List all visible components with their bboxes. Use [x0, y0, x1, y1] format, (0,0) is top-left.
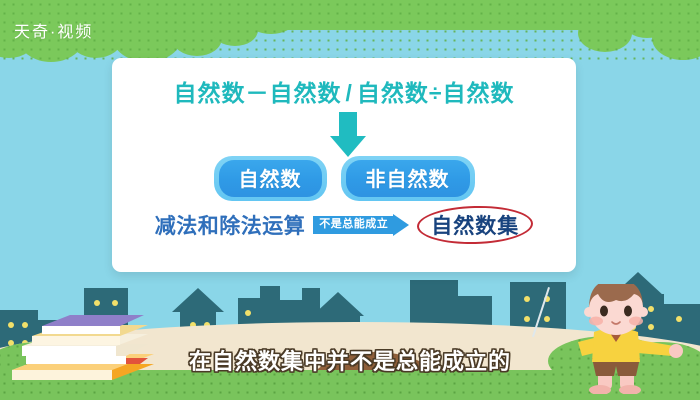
subtitle-caption: 在自然数集中并不是总能成立的 — [0, 344, 700, 376]
flow-arrow-tip — [393, 214, 409, 236]
down-arrow-icon — [330, 112, 366, 156]
card-headline: 自然数－自然数/自然数÷自然数 — [112, 74, 576, 108]
cartoon-boy-icon — [556, 284, 696, 394]
result-set-highlight: 自然数集 — [417, 206, 533, 244]
operations-label: 减法和除法运算 — [155, 210, 306, 240]
flow-arrow-icon: 不是总能成立 — [313, 214, 409, 236]
headline-left-expression: 自然数－自然数 — [173, 80, 341, 106]
result-pills: 自然数 非自然数 — [112, 156, 576, 201]
conclusion-row: 减法和除法运算 不是总能成立 自然数集 — [112, 206, 576, 244]
pill-non-natural-number[interactable]: 非自然数 — [341, 156, 475, 201]
top-scallop-banner — [0, 0, 700, 62]
pill-non-natural-number-label: 非自然数 — [346, 160, 470, 197]
flow-arrow-label: 不是总能成立 — [313, 216, 393, 234]
video-frame: 天奇·视频 自然数－自然数/自然数÷自然数 自然数 非自然数 减法和除法运算 不… — [0, 0, 700, 400]
headline-right-expression: 自然数÷自然数 — [357, 80, 515, 106]
headline-separator: / — [341, 80, 356, 106]
pill-natural-number[interactable]: 自然数 — [214, 156, 327, 201]
watermark-logo: 天奇·视频 — [14, 18, 93, 42]
lesson-card: 自然数－自然数/自然数÷自然数 自然数 非自然数 减法和除法运算 不是总能成立 … — [112, 58, 576, 272]
pill-natural-number-label: 自然数 — [219, 160, 322, 197]
result-set-label: 自然数集 — [431, 210, 519, 240]
